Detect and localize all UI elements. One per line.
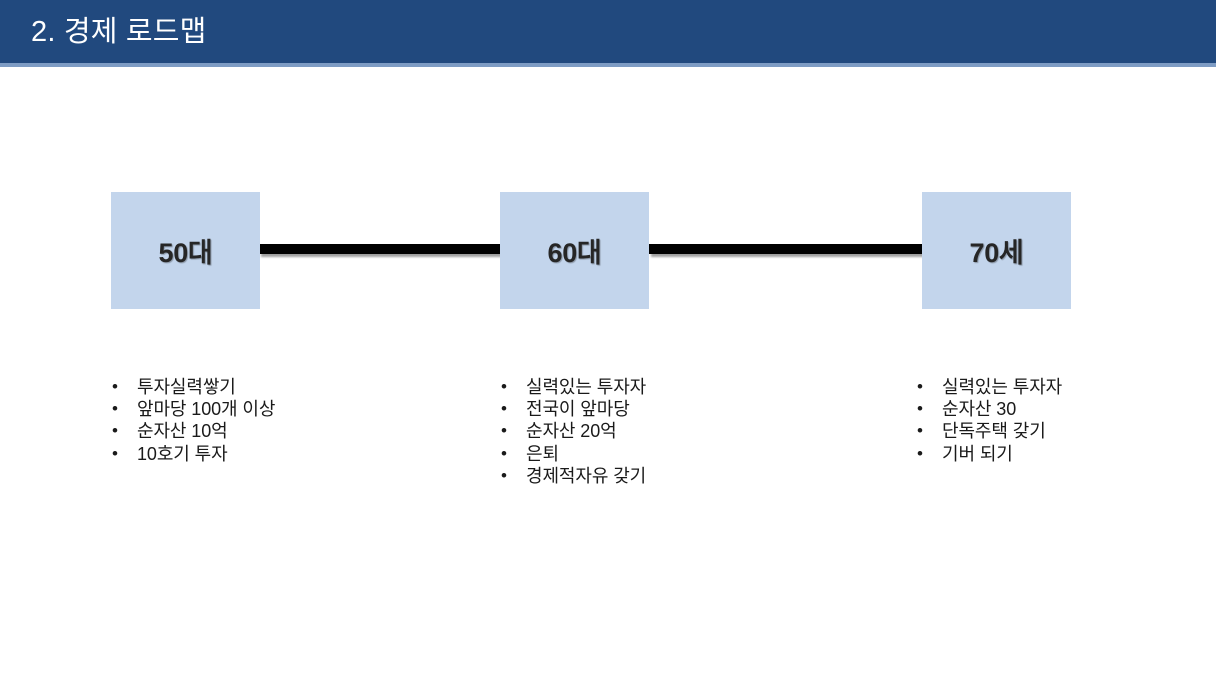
list-item-label: 순자산 10억 xyxy=(137,421,228,441)
list-item-label: 전국이 앞마당 xyxy=(526,399,630,419)
bullet-icon: • xyxy=(501,465,513,487)
list-item: • 실력있는 투자자 xyxy=(499,376,829,398)
list-item: • 실력있는 투자자 xyxy=(915,376,1215,398)
bullet-icon: • xyxy=(917,398,929,420)
bullet-icon: • xyxy=(501,376,513,398)
stage-label-50s: 50대 xyxy=(159,231,213,270)
list-item: • 순자산 20억 xyxy=(499,420,829,442)
list-item-label: 실력있는 투자자 xyxy=(526,377,646,397)
list-item-label: 앞마당 100개 이상 xyxy=(137,399,275,419)
goal-list-70s: • 실력있는 투자자 • 순자산 30 • 단독주택 갖기 • 기버 되기 xyxy=(915,376,1215,465)
stage-label-70s: 70세 xyxy=(970,231,1024,270)
bullet-icon: • xyxy=(501,443,513,465)
list-item: • 10호기 투자 xyxy=(110,443,440,465)
bullet-icon: • xyxy=(501,398,513,420)
list-item-label: 순자산 30 xyxy=(942,399,1016,419)
list-item: • 단독주택 갖기 xyxy=(915,420,1215,442)
bullet-icon: • xyxy=(112,398,124,420)
connector-stage2-stage3 xyxy=(649,244,922,254)
bullet-icon: • xyxy=(112,376,124,398)
bullet-icon: • xyxy=(112,420,124,442)
goal-list-60s: • 실력있는 투자자 • 전국이 앞마당 • 순자산 20억 • 은퇴 • 경제… xyxy=(499,376,829,487)
list-item-label: 단독주택 갖기 xyxy=(942,421,1046,441)
slide-header-divider xyxy=(0,63,1216,67)
list-item: • 은퇴 xyxy=(499,443,829,465)
list-item: • 앞마당 100개 이상 xyxy=(110,398,440,420)
bullet-icon: • xyxy=(917,376,929,398)
list-item-label: 은퇴 xyxy=(526,444,559,464)
bullet-icon: • xyxy=(501,420,513,442)
stage-box-70s[interactable]: 70세 xyxy=(922,192,1071,309)
list-item: • 경제적자유 갖기 xyxy=(499,465,829,487)
stage-box-60s[interactable]: 60대 xyxy=(500,192,649,309)
bullet-icon: • xyxy=(917,443,929,465)
list-item-label: 기버 되기 xyxy=(942,444,1013,464)
page-title: 2. 경제 로드맵 xyxy=(31,14,207,50)
list-item: • 투자실력쌓기 xyxy=(110,376,440,398)
list-item-label: 경제적자유 갖기 xyxy=(526,466,646,486)
list-item-label: 순자산 20억 xyxy=(526,421,617,441)
bullet-icon: • xyxy=(917,420,929,442)
stage-label-60s: 60대 xyxy=(548,231,602,270)
list-item: • 기버 되기 xyxy=(915,443,1215,465)
list-item: • 전국이 앞마당 xyxy=(499,398,829,420)
list-item: • 순자산 10억 xyxy=(110,420,440,442)
stage-box-50s[interactable]: 50대 xyxy=(111,192,260,309)
list-item: • 순자산 30 xyxy=(915,398,1215,420)
list-item-label: 투자실력쌓기 xyxy=(137,377,236,397)
bullet-icon: • xyxy=(112,443,124,465)
goal-list-50s: • 투자실력쌓기 • 앞마당 100개 이상 • 순자산 10억 • 10호기 … xyxy=(110,376,440,465)
connector-stage1-stage2 xyxy=(259,244,500,254)
list-item-label: 10호기 투자 xyxy=(137,444,228,464)
list-item-label: 실력있는 투자자 xyxy=(942,377,1062,397)
